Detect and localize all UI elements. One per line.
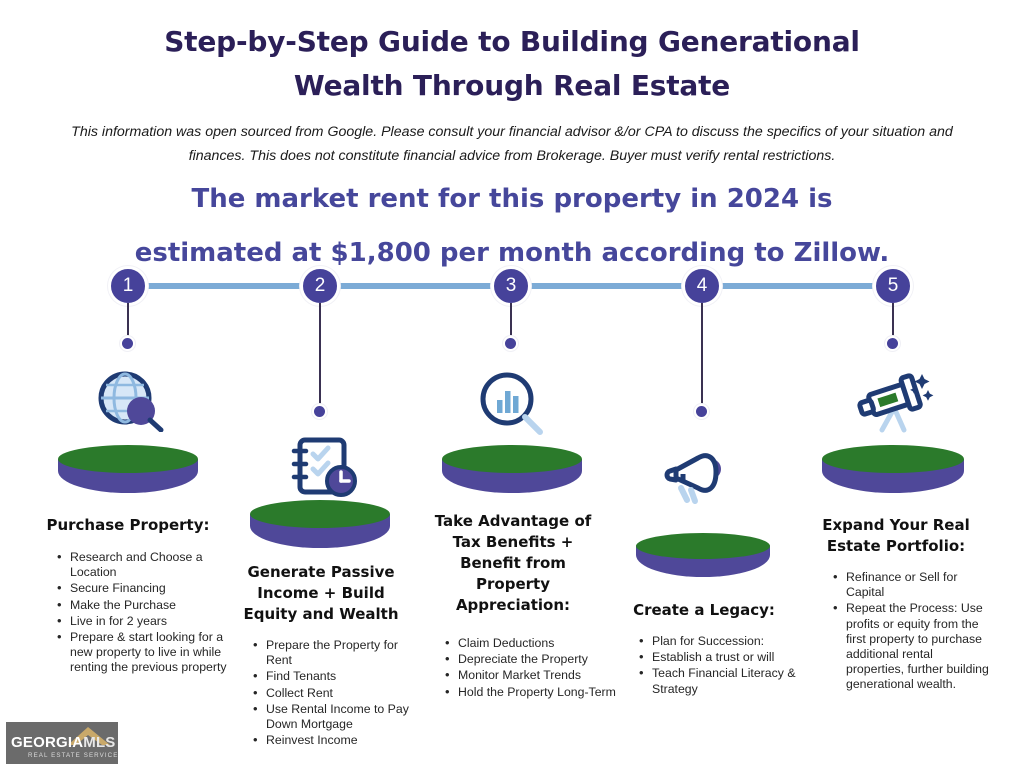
list-item: Hold the Property Long-Term [456,685,616,700]
step-5-bullets: Refinance or Sell for Capital Repeat the… [828,570,994,694]
notepad-clock-icon [288,434,364,502]
step-1-title: Purchase Property: [28,515,228,536]
pedestal-2 [250,500,390,548]
list-item: Use Rental Income to Pay Down Mortgage [264,702,424,732]
list-item: Prepare & start looking for a new proper… [68,630,236,676]
timeline-stem-dot-1 [122,338,133,349]
logo-wordmark: GEORGIAMLS [11,734,116,751]
list-item: Plan for Succession: [650,634,802,649]
pedestal-5 [822,445,964,493]
step-2-title: Generate Passive Income + Build Equity a… [238,562,404,625]
page-title-line-1: Step-by-Step Guide to Building Generatio… [0,20,1024,64]
timeline-stem-4 [701,303,704,411]
list-item: Find Tenants [264,669,424,684]
globe-search-icon [92,370,172,432]
timeline-node-4-number: 4 [697,275,708,296]
page-title-line-2: Wealth Through Real Estate [0,64,1024,108]
list-item: Live in for 2 years [68,614,236,629]
pedestal-3-top [442,445,582,473]
pedestal-4-top [636,533,770,559]
list-item: Refinance or Sell for Capital [844,570,994,600]
pedestal-4 [636,533,770,577]
timeline-node-3[interactable]: 3 [491,266,531,306]
chart-magnifier-icon [476,370,548,436]
step-3-bullets: Claim Deductions Depreciate the Property… [440,636,616,701]
disclaimer-text: This information was open sourced from G… [62,120,962,168]
megaphone-icon [664,448,740,510]
list-item: Teach Financial Literacy & Strategy [650,666,802,696]
step-4-bullets: Plan for Succession: Establish a trust o… [634,634,802,698]
timeline-stem-3 [510,303,513,343]
step-1-bullets: Research and Choose a Location Secure Fi… [52,550,236,677]
georgia-mls-logo[interactable]: GEORGIAMLS REAL ESTATE SERVICES [6,722,118,764]
timeline-node-1[interactable]: 1 [108,266,148,306]
list-item: Repeat the Process: Use profits or equit… [844,601,994,692]
list-item: Depreciate the Property [456,652,616,667]
pedestal-5-top [822,445,964,473]
list-item: Reinvest Income [264,733,424,748]
list-item: Claim Deductions [456,636,616,651]
list-item: Collect Rent [264,686,424,701]
logo-word-accent: MLS [83,734,115,751]
list-item: Prepare the Property for Rent [264,638,424,668]
timeline-stem-dot-4 [696,406,707,417]
logo-word-main: GEORGIA [11,734,83,751]
timeline-stem-5 [892,303,895,343]
pedestal-1-top [58,445,198,473]
pedestal-2-top [250,500,390,528]
timeline-node-5-number: 5 [888,275,899,296]
timeline-node-1-number: 1 [123,275,134,296]
pedestal-3 [442,445,582,493]
telescope-icon [852,368,936,434]
logo-tagline: REAL ESTATE SERVICES [28,752,118,759]
timeline-node-5[interactable]: 5 [873,266,913,306]
pedestal-1 [58,445,198,493]
timeline-node-2[interactable]: 2 [300,266,340,306]
timeline-node-3-number: 3 [506,275,517,296]
list-item: Secure Financing [68,581,236,596]
list-item: Research and Choose a Location [68,550,236,580]
timeline-stem-1 [127,303,130,343]
page-title: Step-by-Step Guide to Building Generatio… [0,20,1024,108]
timeline-stem-2 [319,303,322,411]
timeline-node-4[interactable]: 4 [682,266,722,306]
timeline-stem-dot-2 [314,406,325,417]
timeline-node-2-number: 2 [315,275,326,296]
list-item: Establish a trust or will [650,650,802,665]
market-rent-callout: The market rent for this property in 202… [0,172,1024,280]
timeline-stem-dot-5 [887,338,898,349]
market-rent-line-1: The market rent for this property in 202… [0,172,1024,226]
timeline-stem-dot-3 [505,338,516,349]
step-4-title: Create a Legacy: [620,600,788,621]
step-3-title: Take Advantage of Tax Benefits + Benefit… [432,511,594,616]
list-item: Make the Purchase [68,598,236,613]
step-2-bullets: Prepare the Property for Rent Find Tenan… [248,638,424,749]
list-item: Monitor Market Trends [456,668,616,683]
step-5-title: Expand Your Real Estate Portfolio: [808,515,984,557]
